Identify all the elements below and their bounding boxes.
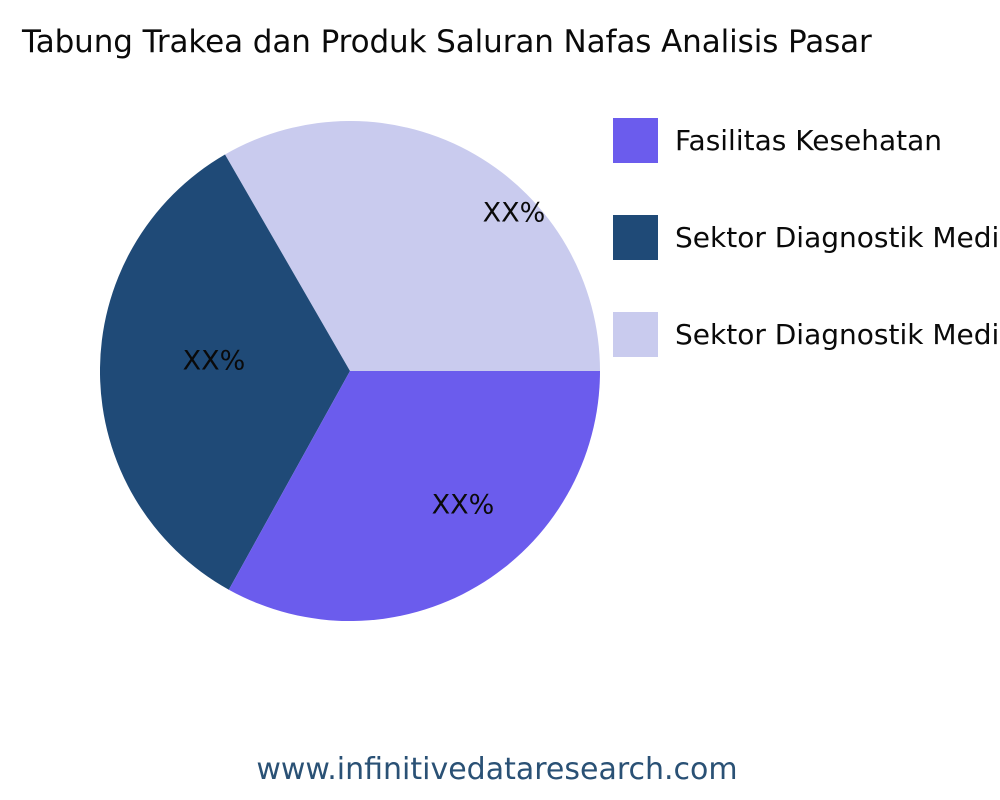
legend-item-label: Sektor Diagnostik Medis <box>675 215 1000 260</box>
legend-item-sektor-diagnostik-medis-1[interactable]: Sektor Diagnostik Medis <box>613 215 1000 260</box>
source-website-url[interactable]: www.infinitivedataresearch.com <box>0 752 1000 787</box>
legend-swatch-icon <box>613 118 658 163</box>
page-title: Tabung Trakea dan Produk Saluran Nafas A… <box>22 22 1000 62</box>
pie-chart-svg: XX% <box>100 121 600 621</box>
legend-swatch-icon <box>613 215 658 260</box>
legend-item-fasilitas-kesehatan[interactable]: Fasilitas Kesehatan <box>613 118 1000 163</box>
chart-page: Tabung Trakea dan Produk Saluran Nafas A… <box>0 0 1000 800</box>
pie-chart: XX% XX% XX% XX% <box>100 121 600 621</box>
legend: Fasilitas Kesehatan Sektor Diagnostik Me… <box>613 118 1000 409</box>
legend-item-label: Fasilitas Kesehatan <box>675 118 942 163</box>
legend-item-label: Sektor Diagnostik Medis <box>675 312 1000 357</box>
legend-item-sektor-diagnostik-medis-2[interactable]: Sektor Diagnostik Medis <box>613 312 1000 357</box>
legend-swatch-icon <box>613 312 658 357</box>
